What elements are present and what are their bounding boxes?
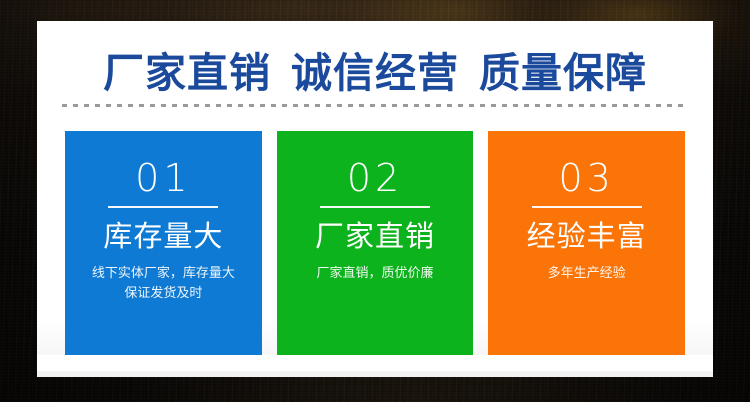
- feature-card-list: 01 库存量大 线下实体厂家，库存量大 保证发货及时 02 厂家直销 厂家直销，…: [65, 131, 685, 355]
- card-description-line-1: 线下实体厂家，库存量大: [71, 264, 256, 284]
- content-panel-inner: 厂家直销诚信经营质量保障 01 库存量大 线下实体厂家，库存量大 保证发货及时 …: [37, 21, 713, 377]
- promo-banner: 厂家直销诚信经营质量保障 01 库存量大 线下实体厂家，库存量大 保证发货及时 …: [0, 0, 750, 402]
- page-title: 厂家直销诚信经营质量保障: [37, 47, 713, 99]
- feature-card-03[interactable]: 03 经验丰富 多年生产经验: [488, 131, 685, 355]
- feature-card-02[interactable]: 02 厂家直销 厂家直销，质优价廉: [277, 131, 474, 355]
- card-title: 库存量大: [65, 219, 262, 253]
- panel-bottom-ledge: [37, 355, 713, 377]
- headline-part-2: 诚信经营: [291, 47, 459, 99]
- headline-part-1: 厂家直销: [103, 47, 271, 99]
- feature-card-01[interactable]: 01 库存量大 线下实体厂家，库存量大 保证发货及时: [65, 131, 262, 355]
- card-divider-rule: [108, 206, 218, 208]
- panel-bottom-shade: [37, 371, 713, 377]
- card-description: 线下实体厂家，库存量大 保证发货及时: [65, 264, 262, 304]
- card-description: 厂家直销，质优价廉: [277, 264, 474, 284]
- card-description-line-2: 保证发货及时: [71, 284, 256, 304]
- card-number: 01: [65, 157, 262, 199]
- card-title: 经验丰富: [488, 219, 685, 253]
- card-number: 02: [277, 157, 474, 199]
- card-title: 厂家直销: [277, 219, 474, 253]
- content-panel: 厂家直销诚信经营质量保障 01 库存量大 线下实体厂家，库存量大 保证发货及时 …: [37, 21, 713, 377]
- card-divider-rule: [532, 206, 642, 208]
- card-description: 多年生产经验: [488, 264, 685, 284]
- card-description-line-1: 多年生产经验: [494, 264, 679, 284]
- card-number: 03: [488, 157, 685, 199]
- dashed-divider: [62, 104, 688, 107]
- card-divider-rule: [320, 206, 430, 208]
- headline-part-3: 质量保障: [479, 47, 647, 99]
- card-description-line-1: 厂家直销，质优价廉: [283, 264, 468, 284]
